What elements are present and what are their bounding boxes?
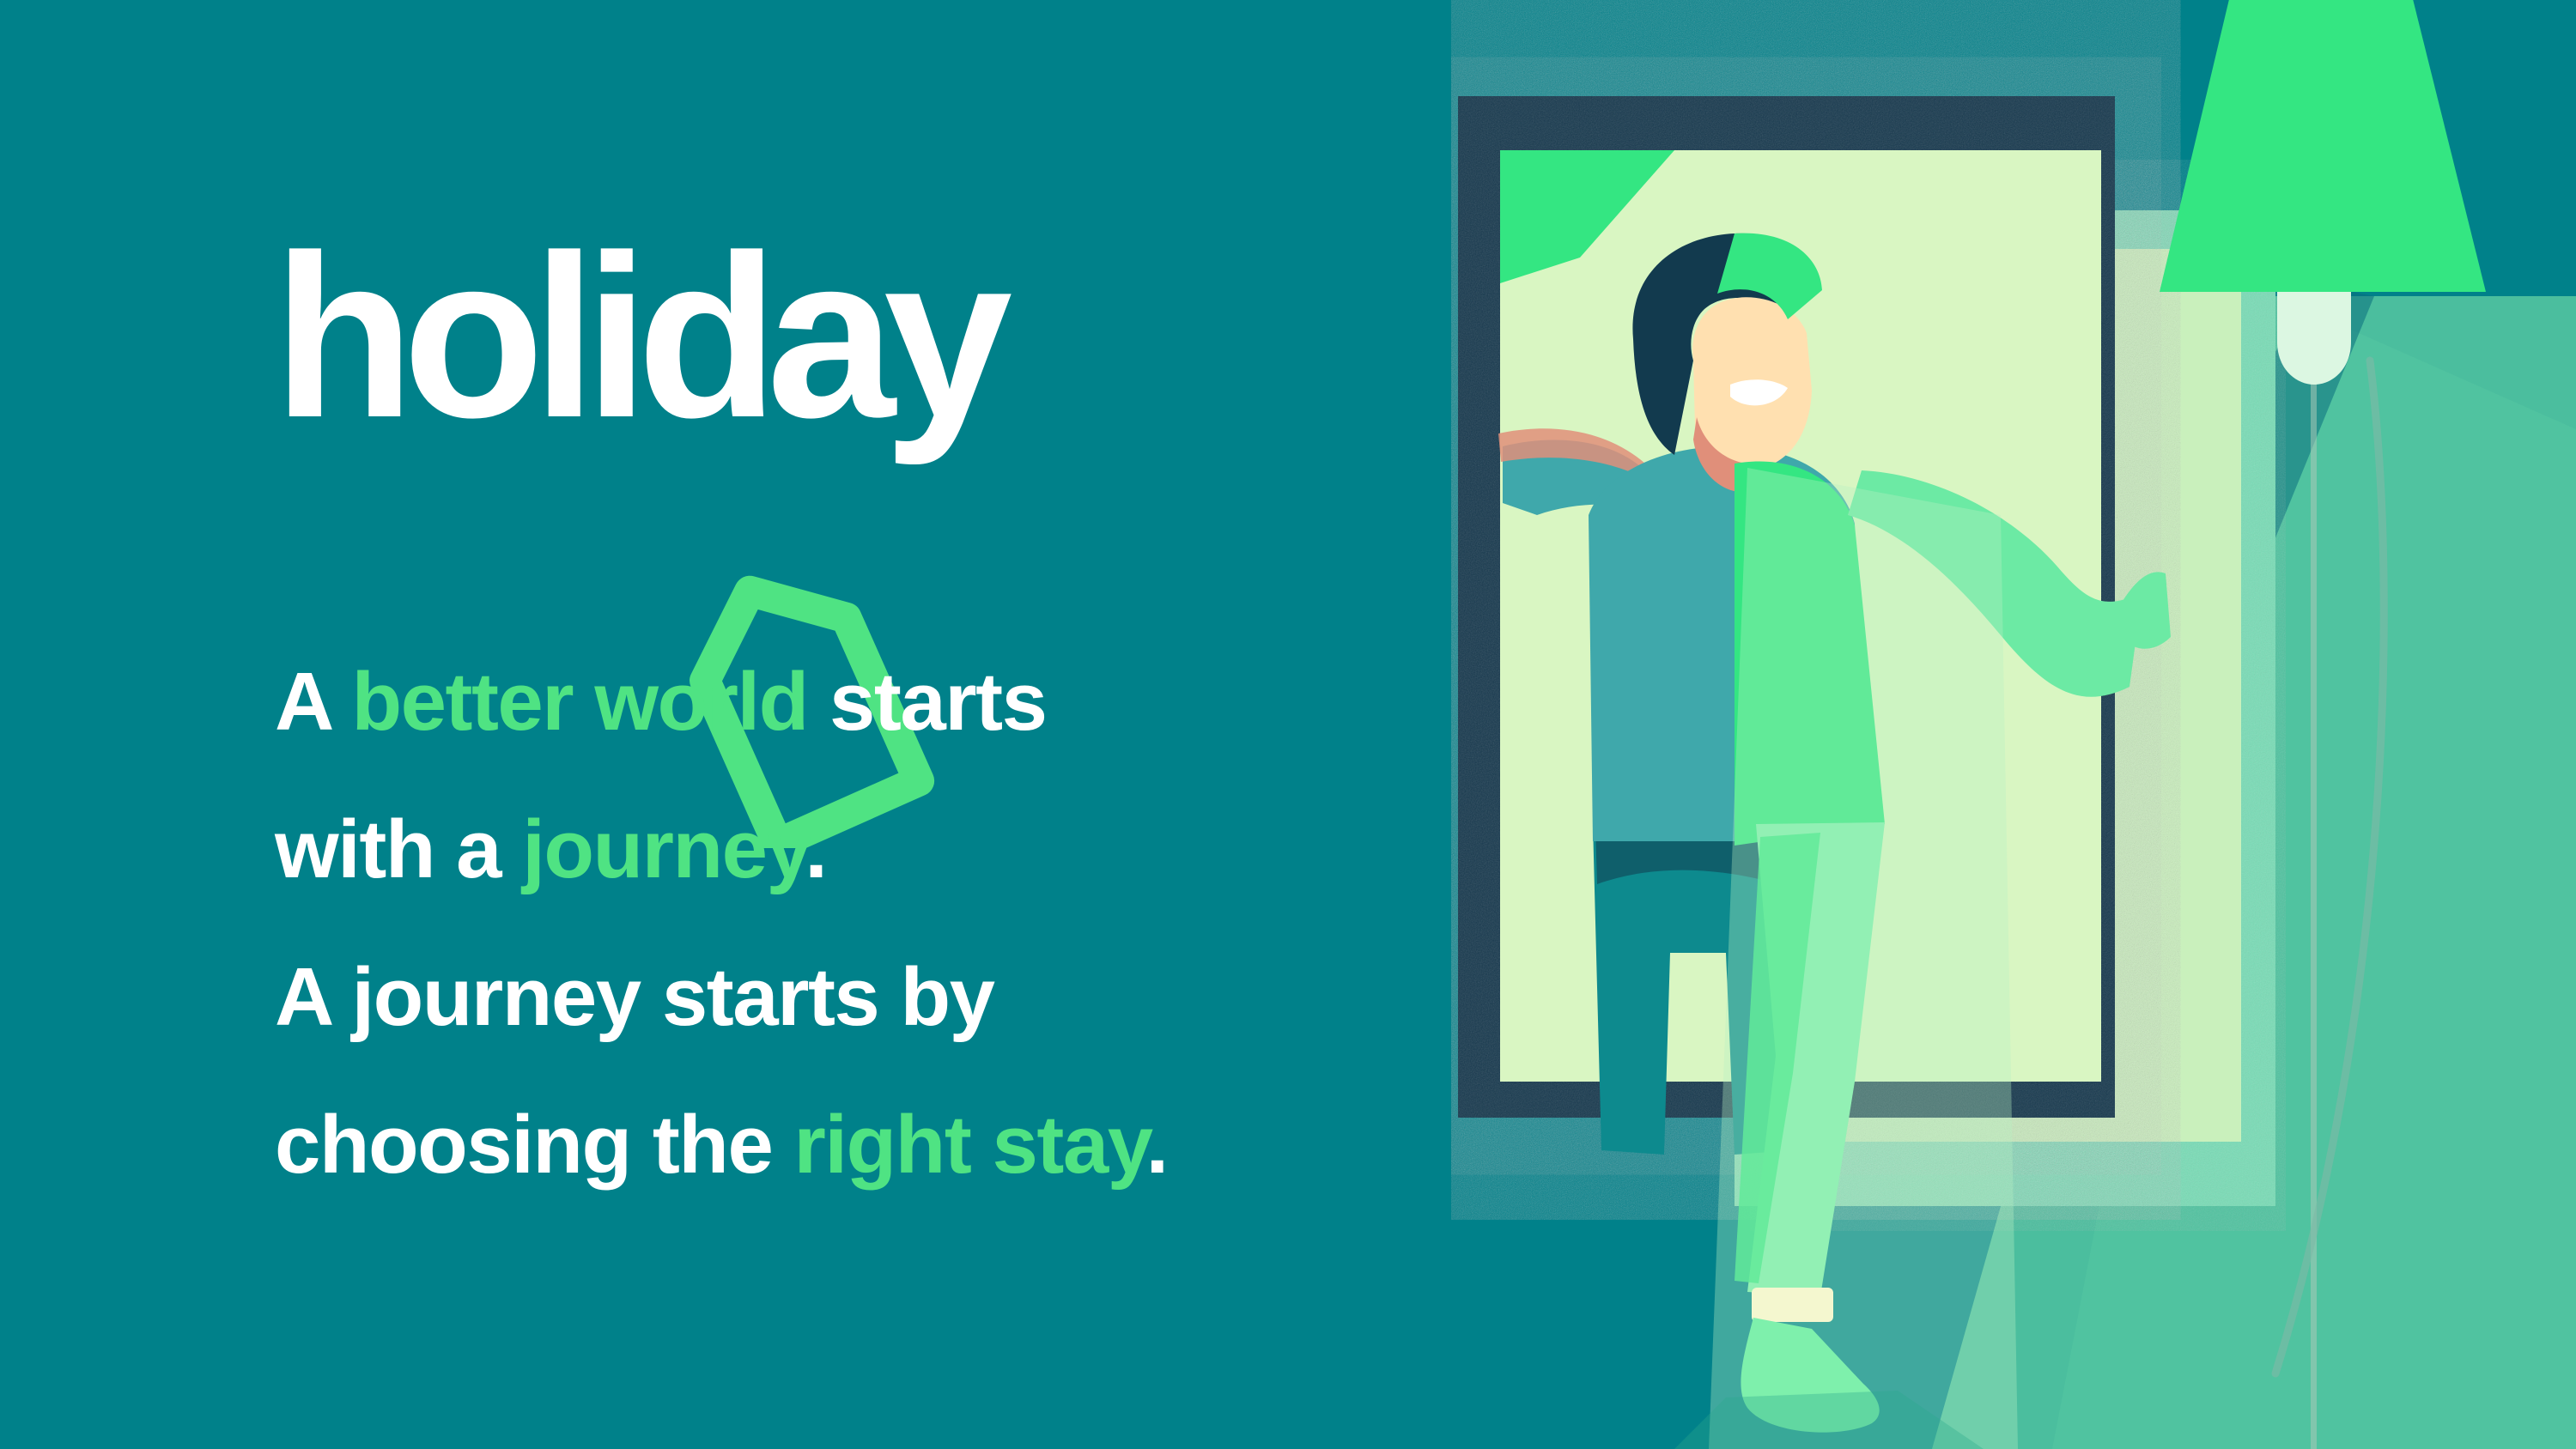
- tagline-seg-accent: journey: [522, 803, 805, 895]
- tagline-seg: .: [805, 803, 826, 895]
- tagline-block: A better world starts with a journey. A …: [275, 661, 1460, 1186]
- poster-canvas: holiday A better world starts with a jou…: [0, 0, 2576, 1449]
- tagline-seg: choosing the: [275, 1099, 794, 1191]
- tagline-line-4: choosing the right stay.: [275, 1104, 1460, 1186]
- tagline-line-1: A better world starts: [275, 661, 1460, 743]
- tagline-seg: with a: [275, 803, 522, 895]
- tagline-line-3: A journey starts by: [275, 956, 1460, 1039]
- tagline-line-2: with a journey.: [275, 809, 1460, 891]
- tagline-seg-accent: right stay: [794, 1099, 1146, 1191]
- lamp-pole: [2311, 283, 2317, 1449]
- brand-lockup: holiday: [273, 221, 1286, 616]
- lamp-bulb: [2277, 292, 2351, 385]
- person-ankle: [1752, 1288, 1833, 1322]
- hero-illustration: [1451, 0, 2576, 1449]
- tagline-seg: A journey starts by: [275, 951, 994, 1043]
- tagline-seg-accent: better world: [351, 656, 807, 748]
- tagline-seg: .: [1145, 1099, 1167, 1191]
- tagline-seg: A: [275, 656, 351, 748]
- tagline-seg: starts: [808, 656, 1047, 748]
- holiday-logo-wordmark: holiday: [273, 221, 1000, 453]
